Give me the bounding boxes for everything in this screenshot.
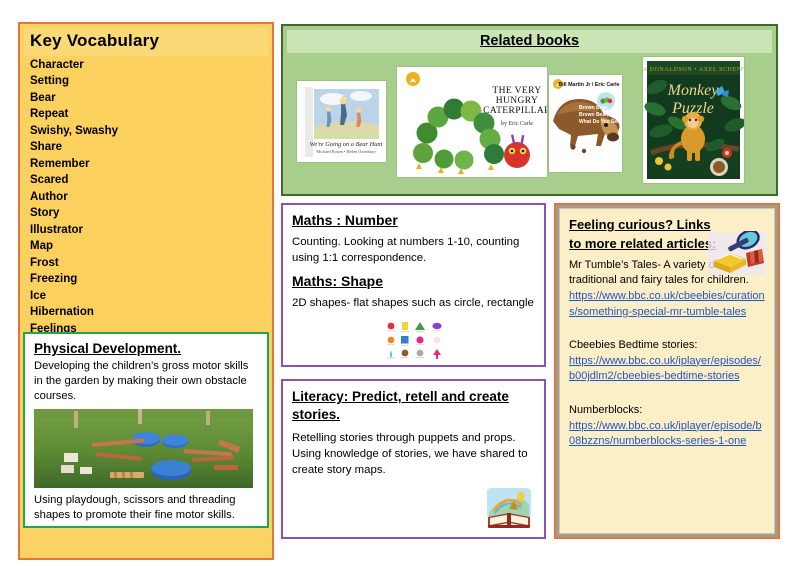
list-item: Share — [24, 140, 268, 155]
list-item: Map — [24, 239, 268, 254]
vocabulary-list: Key Vocabulary Character Setting Bear Re… — [24, 28, 268, 337]
maths-shape-heading: Maths: Shape — [292, 273, 535, 289]
brown-bear-cover: Bill Martin Jr / Eric Carle Brown Bear, … — [549, 75, 622, 172]
literacy-text: Retelling stories through puppets and pr… — [292, 430, 535, 479]
maths-panel: Maths : Number Counting. Looking at numb… — [281, 203, 546, 367]
svg-text:JULIA DONALDSON • AXEL SCHEFFL: JULIA DONALDSON • AXEL SCHEFFLER — [643, 67, 744, 73]
list-item: Setting — [24, 74, 268, 89]
related-articles-heading: Feeling curious? Links to more related a… — [569, 216, 719, 254]
list-item: Story — [24, 206, 268, 221]
list-item: Ice — [24, 289, 268, 304]
list-item: Freezing — [24, 272, 268, 287]
svg-text:Monkey: Monkey — [667, 82, 720, 99]
svg-text:HUNGRY: HUNGRY — [496, 96, 539, 106]
literacy-heading: Literacy: Predict, retell and create sto… — [292, 388, 535, 425]
list-item: Scared — [24, 173, 268, 188]
vocabulary-title: Key Vocabulary — [24, 28, 268, 56]
svg-text:THE VERY: THE VERY — [492, 86, 541, 96]
svg-text:by Eric Carle: by Eric Carle — [501, 121, 533, 127]
learning-overview-poster: Key Vocabulary Character Setting Bear Re… — [0, 0, 800, 566]
related-books-title: Related books — [287, 30, 772, 53]
list-item: Remember — [24, 157, 268, 172]
literacy-panel: Literacy: Predict, retell and create sto… — [281, 379, 546, 539]
list-item: Frost — [24, 256, 268, 271]
svg-text:We're Going on a Bear Hunt: We're Going on a Bear Hunt — [310, 141, 383, 148]
list-item: Swishy, Swashy — [24, 124, 268, 139]
link-url-mr-tumble[interactable]: https://www.bbc.co.uk/cbeebies/curations… — [569, 289, 765, 320]
link-url-numberblocks[interactable]: https://www.bbc.co.uk/iplayer/episode/b0… — [569, 419, 765, 450]
link-label-numberblocks: Numberblocks: — [569, 403, 765, 419]
list-item: Hibernation — [24, 305, 268, 320]
maths-number-text: Counting. Looking at numbers 1-10, count… — [292, 234, 535, 266]
svg-text:Michael Rosen • Helen Oxenbury: Michael Rosen • Helen Oxenbury — [316, 149, 376, 154]
list-item: Repeat — [24, 107, 268, 122]
related-articles-panel: Feeling curious? Links to more related a… — [554, 203, 780, 539]
svg-text:CATERPILLAR: CATERPILLAR — [483, 106, 547, 116]
physical-development-heading: Physical Development. — [34, 341, 258, 356]
list-item: Author — [24, 190, 268, 205]
magnifying-glass-and-books-icon — [706, 231, 768, 277]
bear-hunt-cover: We're Going on a Bear Hunt Michael Rosen… — [297, 81, 386, 162]
list-item: Character — [24, 58, 268, 73]
list-item: Illustrator — [24, 223, 268, 238]
obstacle-course-photo — [34, 409, 253, 488]
hungry-caterpillar-cover: THE VERY HUNGRY CATERPILLAR by Eric Carl… — [397, 67, 547, 177]
open-story-book-icon — [486, 487, 532, 529]
physical-development-text-1: Developing the children’s gross motor sk… — [34, 359, 258, 404]
svg-text:Brown Bear,: Brown Bear, — [579, 112, 609, 118]
svg-text:Brown Bear,: Brown Bear, — [579, 105, 609, 111]
monkey-puzzle-cover: JULIA DONALDSON • AXEL SCHEFFLER Monkey … — [643, 57, 744, 183]
physical-development-panel: Physical Development. Developing the chi… — [23, 332, 269, 528]
link-label-bedtime-stories: Cbeebies Bedtime stories: — [569, 338, 765, 354]
book-covers-row: We're Going on a Bear Hunt Michael Rosen… — [287, 53, 772, 193]
shapes-chart-image — [382, 319, 446, 359]
svg-text:What Do You See?: What Do You See? — [579, 119, 622, 125]
related-books-panel: Related books — [281, 24, 778, 196]
physical-development-text-2: Using playdough, scissors and threading … — [34, 493, 258, 523]
link-url-bedtime-stories[interactable]: https://www.bbc.co.uk/iplayer/episodes/b… — [569, 354, 765, 385]
maths-number-heading: Maths : Number — [292, 212, 535, 228]
maths-shape-text: 2D shapes- flat shapes such as circle, r… — [292, 295, 535, 311]
svg-text:Bill Martin Jr / Eric Carle: Bill Martin Jr / Eric Carle — [558, 82, 619, 88]
list-item: Bear — [24, 91, 268, 106]
